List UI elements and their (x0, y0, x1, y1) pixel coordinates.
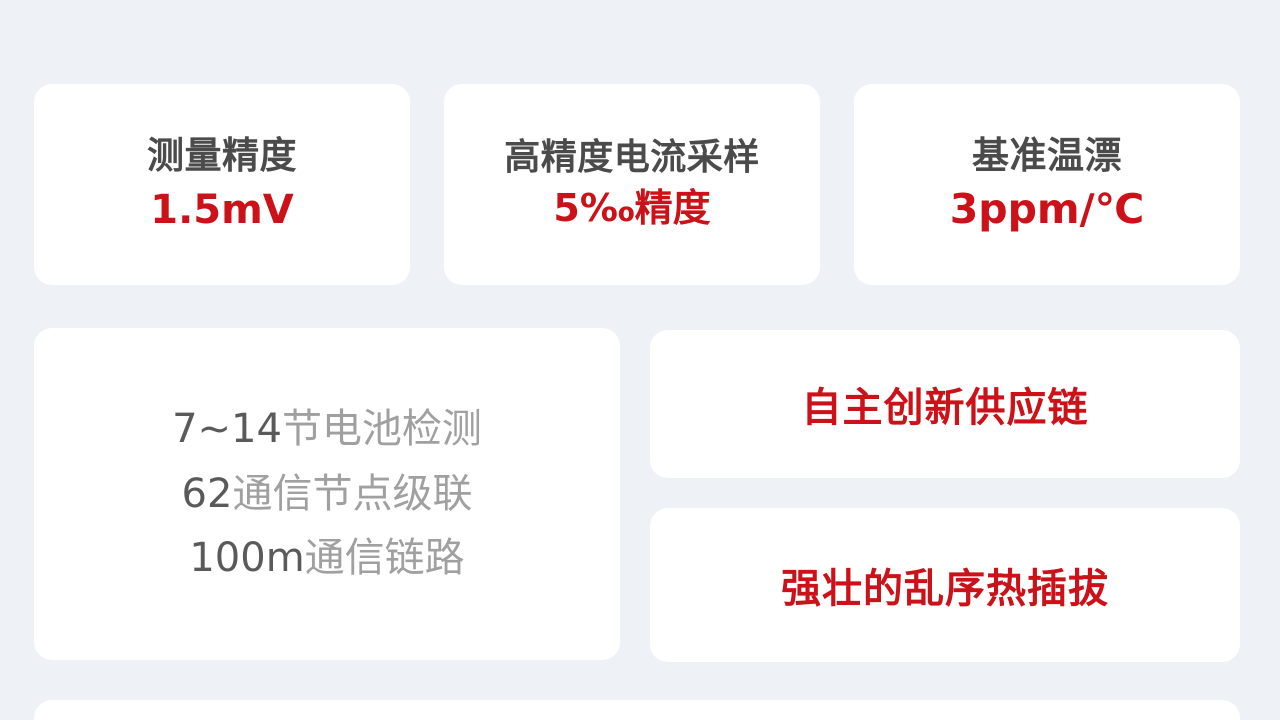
stat-card-measurement-accuracy[interactable]: 测量精度 1.5mV (34, 84, 410, 285)
stat-card-reference-temp-drift[interactable]: 基准温漂 3ppm/℃ (854, 84, 1240, 285)
highlight-card-text: 自主创新供应链 (802, 375, 1089, 433)
bottom-partial-card[interactable] (34, 700, 1240, 720)
spec-list-item: 100m通信链路 (189, 526, 464, 591)
spec-list-item-number: 100m (189, 535, 304, 581)
spec-list-item-label: 通信节点级联 (232, 471, 472, 517)
stat-card-value: 3ppm/℃ (950, 183, 1145, 236)
highlight-card-hot-swap[interactable]: 强壮的乱序热插拔 (650, 508, 1240, 662)
highlight-card-text: 强壮的乱序热插拔 (781, 556, 1109, 614)
spec-list-item-label: 通信链路 (305, 535, 465, 581)
spec-list-card[interactable]: 7~14节电池检测 62通信节点级联 100m通信链路 (34, 328, 620, 660)
stat-card-value: 1.5mV (150, 184, 294, 236)
spec-list-item-label: 节电池检测 (282, 406, 482, 452)
spec-list-item: 62通信节点级联 (182, 462, 473, 527)
stat-card-title: 基准温漂 (972, 133, 1122, 179)
spec-list-item-number: 7~14 (172, 406, 282, 452)
spec-cards-page: 测量精度 1.5mV 高精度电流采样 5‰精度 基准温漂 3ppm/℃ 7~14… (0, 0, 1280, 720)
stat-card-value: 5‰精度 (553, 184, 710, 233)
stat-card-title: 测量精度 (147, 133, 297, 179)
stat-card-title: 高精度电流采样 (504, 135, 760, 180)
stat-card-current-sampling[interactable]: 高精度电流采样 5‰精度 (444, 84, 820, 285)
highlight-card-supply-chain[interactable]: 自主创新供应链 (650, 330, 1240, 478)
spec-list-item: 7~14节电池检测 (172, 397, 482, 462)
spec-list-item-number: 62 (182, 471, 233, 517)
